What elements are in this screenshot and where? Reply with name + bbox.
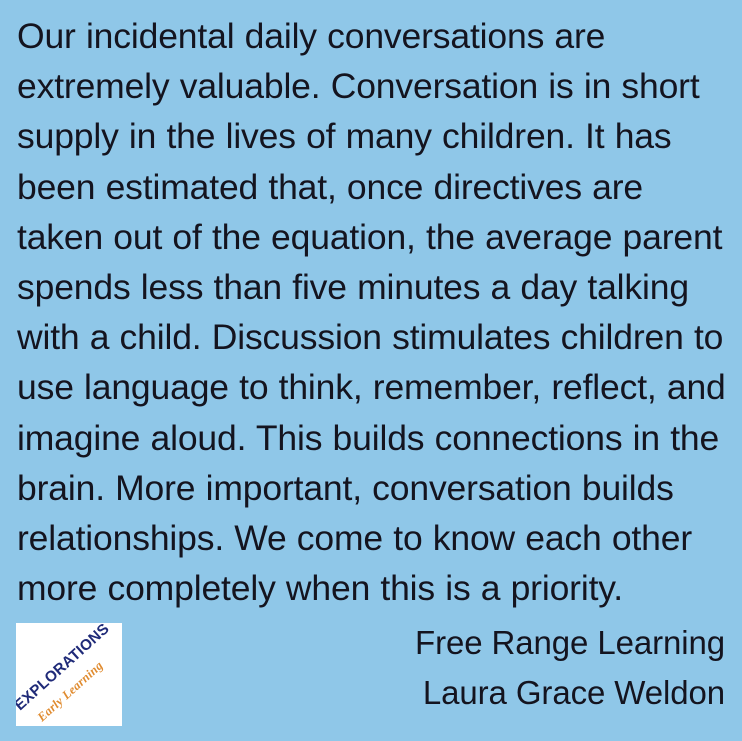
quote-card: Our incidental daily conversations are e…	[0, 0, 742, 741]
logo-artwork: EXPLORATIONS Early Learning	[16, 623, 122, 726]
attribution-author: Laura Grace Weldon	[305, 668, 725, 718]
attribution-source-title: Free Range Learning	[305, 618, 725, 668]
explorations-early-learning-logo: EXPLORATIONS Early Learning	[16, 623, 122, 726]
quote-text: Our incidental daily conversations are e…	[17, 11, 729, 613]
attribution: Free Range Learning Laura Grace Weldon	[305, 618, 725, 718]
